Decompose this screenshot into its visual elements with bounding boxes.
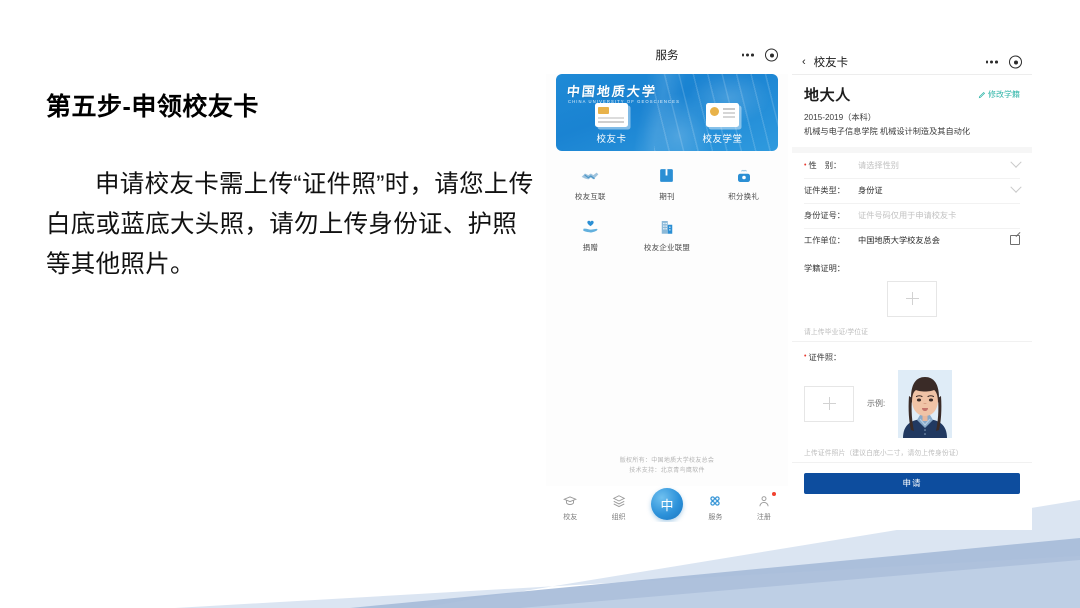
right-phone-title: 校友卡 — [814, 54, 849, 70]
copyright-block: 版权所有：中国地质大学校友总会 技术支持：北京青鸟鹰软件 — [546, 456, 788, 476]
field-value: 身份证 — [858, 184, 1012, 196]
edit-record-label: 修改学籍 — [988, 89, 1020, 100]
banner-card-label: 校友学堂 — [702, 131, 742, 145]
more-dots-icon[interactable] — [742, 53, 754, 56]
notification-dot — [772, 492, 777, 497]
photo-upload-label-text: 证件照： — [808, 351, 841, 363]
pencil-icon — [978, 91, 986, 99]
more-dots-icon[interactable] — [986, 60, 998, 63]
grid-item-enterprise-alliance[interactable]: 校友企业联盟 — [629, 216, 706, 253]
text-column: 第五步-申领校友卡 申请校友卡需上传“证件照”时，请您上传白底或蓝底大头照，请勿… — [46, 92, 536, 284]
photo-upload-label: • 证件照： — [804, 351, 1020, 363]
building-icon — [656, 216, 677, 237]
left-phone-header: 服务 — [546, 42, 788, 68]
id-number-input[interactable]: 证件号码仅用于申请校友卡 — [858, 209, 1020, 221]
chevron-down-icon — [1010, 157, 1021, 168]
banner-card-row: 校友卡 校友学堂 — [556, 103, 778, 145]
target-circle-icon[interactable] — [1009, 56, 1022, 69]
field-label-text: 证件类型： — [804, 184, 845, 196]
identity-row: 地大人 修改学籍 — [804, 84, 1020, 105]
right-phone-header: ‹ 校友卡 — [792, 50, 1032, 74]
field-label: 身份证号： — [804, 209, 858, 221]
field-gender[interactable]: • 性 别： 请选择性别 — [792, 153, 1032, 178]
field-label: 工作单位： — [804, 234, 858, 246]
required-marker: • — [804, 162, 806, 169]
layers-icon — [612, 493, 626, 509]
handshake-icon — [580, 165, 601, 186]
right-phone-screenshot: ‹ 校友卡 地大人 修改学籍 2 — [792, 50, 1032, 530]
grid-item-label: 校友互联 — [575, 191, 606, 202]
grid-item-label: 捐赠 — [583, 242, 598, 253]
book-icon — [656, 165, 677, 186]
diploma-upload-button[interactable] — [887, 281, 937, 317]
field-label: 证件类型： — [804, 184, 858, 196]
app-logo-icon — [651, 488, 683, 520]
grid-item-label: 积分换礼 — [728, 191, 759, 202]
university-banner[interactable]: 中国地质大学 CHINA UNIVERSITY OF GEOSCIENCES 校… — [556, 74, 778, 151]
service-icon-grid: 校友互联 期刊 — [552, 165, 782, 253]
target-circle-icon[interactable] — [765, 49, 778, 62]
field-value: 请选择性别 — [858, 159, 1012, 171]
grid-item-alumni-network[interactable]: 校友互联 — [552, 165, 629, 202]
deco-band-soft — [520, 560, 1080, 608]
grid-item-label: 期刊 — [659, 191, 674, 202]
diploma-upload-hint: 请上传毕业证/学位证 — [792, 317, 1032, 342]
plus-icon — [906, 292, 919, 305]
example-photo — [898, 370, 952, 438]
field-label-text: 身份证号： — [804, 209, 845, 221]
left-phone-screenshot: 服务 中国地质大学 CHINA UNIVERSITY OF GEOSCIENCE… — [546, 42, 788, 522]
tab-label: 校友 — [563, 512, 577, 522]
miniprogram-capsule[interactable] — [742, 49, 778, 62]
photo-upload-button[interactable] — [804, 386, 854, 422]
id-card-icon — [595, 103, 628, 127]
bottom-tabbar: 校友 组织 — [546, 486, 788, 522]
tab-label: 组织 — [612, 512, 626, 522]
person-icon — [757, 493, 771, 509]
study-years: 2015-2019（本科） — [804, 112, 1020, 124]
alumni-name: 地大人 — [804, 84, 851, 105]
tab-register[interactable]: 注册 — [740, 493, 788, 522]
major-info: 机械与电子信息学院 机械设计制造及其自动化 — [804, 126, 1020, 138]
page-title: 第五步-申领校友卡 — [46, 92, 536, 123]
body-paragraph: 申请校友卡需上传“证件照”时，请您上传白底或蓝底大头照，请勿上传身份证、护照等其… — [46, 165, 536, 284]
photo-upload-row: 示例: — [804, 370, 1020, 438]
grid-item-points-gift[interactable]: 积分换礼 — [705, 165, 782, 202]
photo-upload-block: • 证件照： 示例: — [792, 342, 1032, 438]
left-phone-body: 中国地质大学 CHINA UNIVERSITY OF GEOSCIENCES 校… — [546, 74, 788, 522]
banner-card-school[interactable]: 校友学堂 — [667, 103, 778, 145]
identity-block: 地大人 修改学籍 2015-2019（本科） 机械与电子信息学院 机械设计制造及… — [792, 75, 1032, 147]
deco-band-mid — [350, 538, 1080, 608]
edit-record-button[interactable]: 修改学籍 — [978, 89, 1020, 100]
left-phone-title: 服务 — [656, 47, 679, 63]
tab-services[interactable]: 服务 — [691, 493, 739, 522]
banner-card-label: 校友卡 — [596, 131, 626, 145]
grid-dots-icon — [708, 493, 722, 509]
edit-square-icon[interactable] — [1010, 235, 1020, 245]
copyright-line-1: 版权所有：中国地质大学校友总会 — [546, 456, 788, 466]
chevron-down-icon — [1010, 182, 1021, 193]
field-label: • 性 别： — [804, 159, 858, 171]
identity-meta: 2015-2019（本科） 机械与电子信息学院 机械设计制造及其自动化 — [804, 112, 1020, 138]
tab-label: 注册 — [757, 512, 771, 522]
tab-organization[interactable]: 组织 — [594, 493, 642, 522]
required-marker: • — [804, 353, 806, 360]
back-chevron-icon[interactable]: ‹ — [802, 57, 806, 68]
tab-label: 服务 — [708, 512, 722, 522]
field-label-text: 工作单位： — [804, 234, 845, 246]
grid-item-journal[interactable]: 期刊 — [629, 165, 706, 202]
grid-item-donate[interactable]: 捐赠 — [552, 216, 629, 253]
graduation-cap-icon — [563, 493, 577, 509]
miniprogram-capsule[interactable] — [986, 56, 1022, 69]
field-workplace[interactable]: 工作单位： 中国地质大学校友总会 — [792, 228, 1032, 253]
slide-canvas: 第五步-申领校友卡 申请校友卡需上传“证件照”时，请您上传白底或蓝底大头照，请勿… — [0, 0, 1080, 608]
banner-logo-cn: 中国地质大学 — [566, 81, 658, 100]
grid-item-label: 校友企业联盟 — [644, 242, 690, 253]
diploma-upload-label-text: 学籍证明： — [804, 262, 845, 274]
field-value: 中国地质大学校友总会 — [858, 234, 1007, 246]
diploma-upload-label: 学籍证明： — [804, 262, 1020, 274]
apply-button[interactable]: 申请 — [804, 473, 1020, 494]
field-label-text: 性 别： — [808, 159, 841, 171]
field-id-type[interactable]: 证件类型： 身份证 — [792, 178, 1032, 203]
diploma-upload-block: 学籍证明： — [792, 253, 1032, 317]
student-card-icon — [706, 103, 739, 127]
submit-area: 申请 — [792, 463, 1032, 494]
tab-home-logo[interactable] — [643, 494, 691, 520]
example-photo-svg — [898, 370, 952, 438]
right-phone-body: 地大人 修改学籍 2015-2019（本科） 机械与电子信息学院 机械设计制造及… — [792, 75, 1032, 530]
form-fields: • 性 别： 请选择性别 证件类型： 身份证 身份证号： — [792, 153, 1032, 253]
copyright-line-2: 技术支持：北京青鸟鹰软件 — [546, 466, 788, 476]
gift-icon — [733, 165, 754, 186]
photo-upload-hint: 上传证件照片（建议白底小二寸，请勿上传身份证） — [792, 438, 1032, 463]
plus-icon — [823, 397, 836, 410]
tab-alumni[interactable]: 校友 — [546, 493, 594, 522]
heart-hand-icon — [580, 216, 601, 237]
banner-card-alumni[interactable]: 校友卡 — [556, 103, 667, 145]
example-label: 示例: — [867, 398, 885, 409]
field-id-number[interactable]: 身份证号： 证件号码仅用于申请校友卡 — [792, 203, 1032, 228]
